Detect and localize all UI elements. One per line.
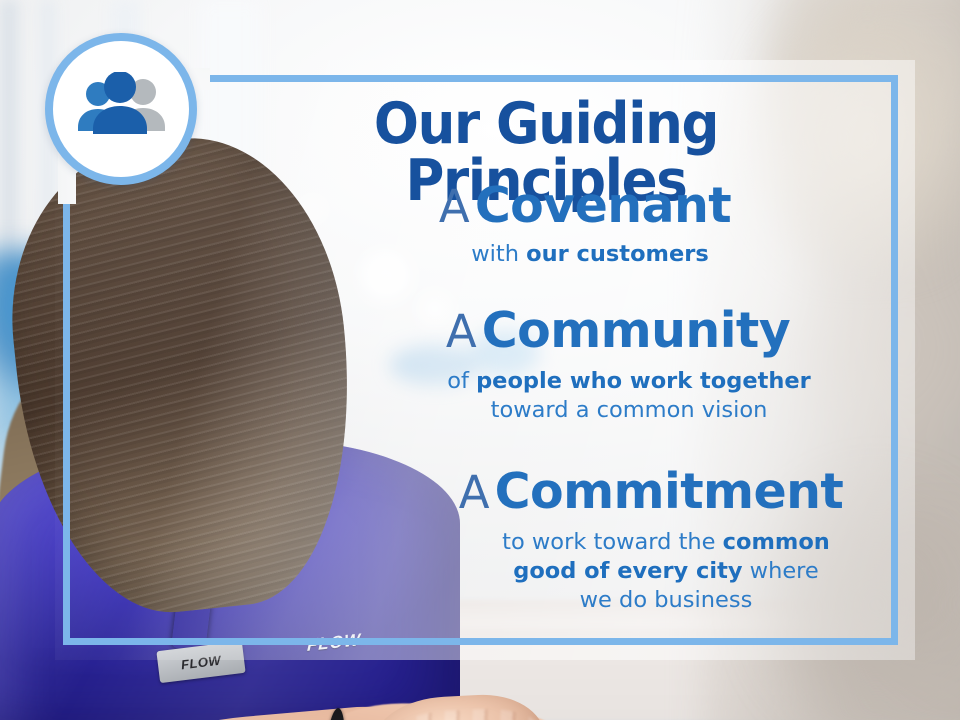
subtext-run-bold: good of every city: [513, 558, 742, 584]
people-group-icon: [69, 72, 173, 146]
principle-article: A: [459, 466, 490, 519]
principle-subtext: to work toward the common good of every …: [452, 528, 880, 616]
principle-covenant: A Covenant with our customers: [300, 180, 880, 269]
principle-heading: A Covenant: [290, 180, 880, 232]
principle-subtext: of people who work together toward a com…: [378, 367, 880, 426]
subtext-run-bold: our customers: [526, 241, 709, 267]
principle-subtext-line: of people who work together: [378, 367, 880, 396]
principle-subtext-line: good of every city where: [452, 557, 880, 586]
subtext-run: where: [743, 558, 819, 584]
principle-subtext-line: to work toward the common: [452, 528, 880, 557]
principle-subtext-line: we do business: [452, 586, 880, 615]
subtext-run: to work toward the: [502, 529, 723, 555]
principle-article: A: [439, 180, 470, 233]
people-badge: [45, 33, 197, 185]
guiding-principles-graphic: FLOW FLOW Our Guidi: [0, 0, 960, 720]
principles-list: A Covenant with our customers A Communit…: [300, 180, 880, 615]
principle-commitment: A Commitment to work toward the common g…: [300, 466, 880, 616]
principle-subtext-line: with our customers: [300, 240, 880, 269]
name-badge-brand: FLOW: [180, 652, 222, 672]
subtext-run: we do business: [580, 587, 753, 613]
principle-subtext: with our customers: [300, 240, 880, 269]
principle-heading: A Commitment: [422, 466, 880, 518]
principle-subtext-line: toward a common vision: [378, 396, 880, 425]
principle-heading: A Community: [356, 305, 880, 357]
subtext-run-bold: common: [723, 529, 830, 555]
subtext-run: with: [471, 241, 526, 267]
subtext-run-bold: people who work together: [476, 368, 811, 394]
subtext-run: toward a common vision: [491, 397, 768, 423]
subtext-run: of: [447, 368, 476, 394]
principle-word: Community: [482, 302, 790, 359]
principle-community: A Community of people who work together …: [300, 305, 880, 425]
principle-word: Covenant: [475, 177, 731, 234]
principle-word: Commitment: [495, 463, 844, 520]
principle-article: A: [446, 305, 477, 358]
